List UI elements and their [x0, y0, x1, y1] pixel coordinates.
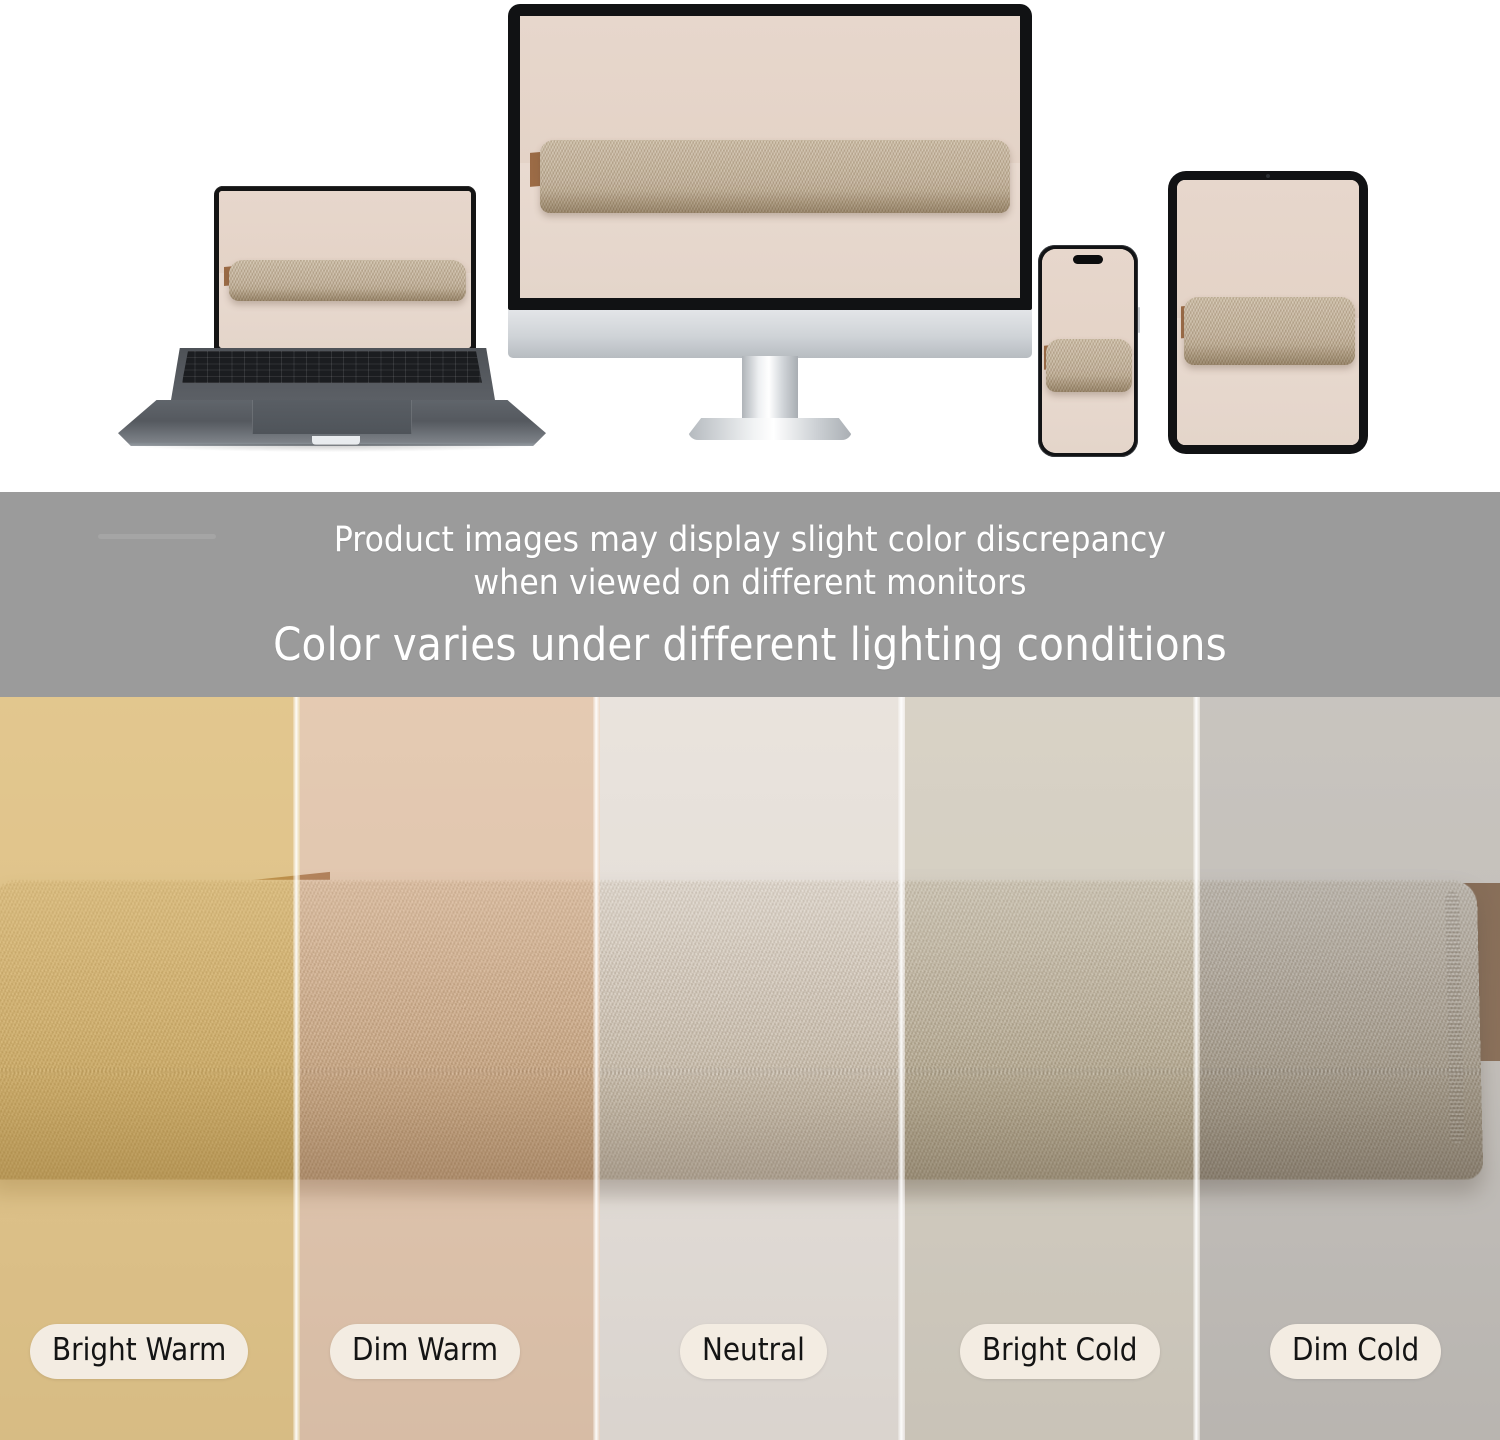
tablet-screen: [1177, 180, 1359, 445]
laptop-screen: [219, 191, 471, 348]
banner-headline: Color varies under different lighting co…: [273, 620, 1227, 670]
artwork-cushion: [229, 260, 466, 301]
band-label-dim-cold: Dim Cold: [1270, 1324, 1441, 1379]
laptop-screen-artwork: [219, 191, 471, 348]
band-label-bright-warm: Bright Warm: [30, 1324, 248, 1379]
laptop-keyboard: [182, 351, 482, 383]
monitor-chin: [508, 310, 1032, 358]
laptop-device-icon: [112, 186, 552, 476]
lighting-band-labels: Bright WarmDim WarmNeutralBright ColdDim…: [0, 1325, 1500, 1379]
phone-screen: [1042, 249, 1134, 453]
artwork-cushion: [540, 140, 1010, 213]
disclaimer-banner: Product images may display slight color …: [0, 492, 1500, 697]
tablet-front-camera-icon: [1266, 174, 1270, 178]
phone-dynamic-island: [1073, 255, 1103, 264]
artwork-cushion: [1046, 339, 1133, 392]
laptop-shadow: [122, 444, 542, 452]
monitor-bezel: [508, 4, 1032, 310]
laptop-base: [112, 348, 552, 460]
laptop-trackpad: [252, 400, 412, 434]
tablet-device-icon: [1168, 171, 1368, 454]
phone-side-button: [1138, 307, 1140, 333]
monitor-stand-foot: [688, 418, 852, 440]
desktop-monitor-device-icon: [508, 4, 1032, 452]
phone-frame: [1038, 245, 1138, 457]
monitor-screen: [520, 16, 1020, 298]
monitor-stand-neck: [742, 356, 798, 422]
artwork-cushion: [1184, 297, 1355, 366]
device-mockup-section: [0, 0, 1500, 492]
band-label-neutral: Neutral: [680, 1324, 827, 1379]
banner-subtitle-line-1: Product images may display slight color …: [334, 519, 1166, 562]
tablet-screen-artwork: [1177, 180, 1359, 445]
laptop-lid: [214, 186, 476, 352]
smartphone-device-icon: [1038, 245, 1138, 457]
banner-highlight-streak: [98, 534, 216, 539]
band-label-dim-warm: Dim Warm: [330, 1324, 520, 1379]
lighting-comparison-section: Bright WarmDim WarmNeutralBright ColdDim…: [0, 697, 1500, 1440]
phone-screen-artwork: [1042, 249, 1134, 453]
banner-subtitle-line-2: when viewed on different monitors: [334, 562, 1166, 605]
tablet-frame: [1168, 171, 1368, 454]
banner-subtitle: Product images may display slight color …: [334, 519, 1166, 604]
monitor-screen-artwork: [520, 16, 1020, 298]
band-label-bright-cold: Bright Cold: [960, 1324, 1160, 1379]
